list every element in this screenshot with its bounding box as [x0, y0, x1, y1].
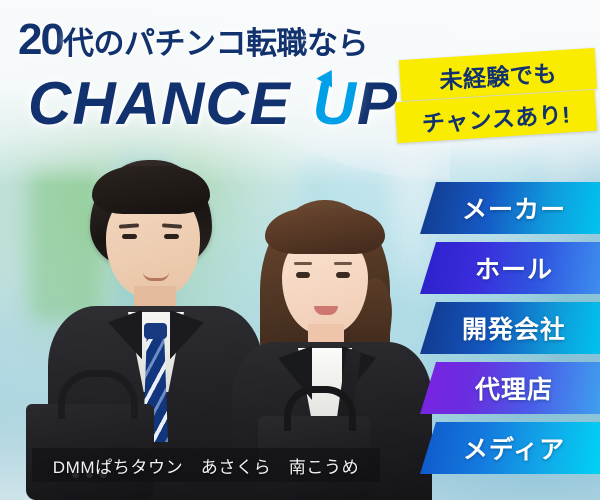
man-tie-knot: [144, 323, 167, 339]
menu-item-maker[interactable]: メーカー: [420, 182, 600, 234]
logo-letter-u: U: [313, 72, 357, 136]
menu-item-label: メディア: [455, 430, 565, 466]
menu-item-label: 開発会社: [454, 310, 566, 346]
menu-item-hall[interactable]: ホール: [420, 242, 600, 294]
man-fringe: [92, 166, 210, 214]
menu-item-media[interactable]: メディア: [420, 422, 600, 474]
highlight-badge: 未経験でも チャンスあり!: [396, 52, 596, 146]
man-eye-right: [164, 234, 179, 239]
logo-letter-p: P: [357, 70, 398, 137]
woman-eye-left: [296, 272, 310, 278]
man-eye-left: [122, 234, 137, 239]
headline-tail: なら: [307, 26, 368, 61]
badge-text-line2: チャンスあり!: [421, 95, 571, 138]
menu-item-development-company[interactable]: 開発会社: [420, 302, 600, 354]
chance-up-logo: CHANCEUP: [28, 72, 398, 136]
woman-eyebrow-right: [334, 262, 352, 265]
badge-text-line1: 未経験でも: [438, 54, 557, 95]
credit-text: DMMぱちタウン あさくら 南こうめ: [53, 453, 359, 478]
category-menu: メーカー ホール 開発会社 代理店 メディア: [420, 182, 600, 482]
menu-item-label: 代理店: [467, 370, 553, 406]
menu-item-label: ホール: [467, 250, 553, 286]
woman-eyebrow-left: [294, 262, 312, 265]
woman-eye-right: [336, 272, 350, 278]
credit-bar: DMMぱちタウン あさくら 南こうめ: [32, 448, 380, 482]
logo-word-chance: CHANCE: [28, 70, 291, 137]
page-title: 20代のパチンコ転職なら: [18, 19, 368, 65]
menu-item-label: メーカー: [454, 190, 566, 226]
promo-banner: 20代のパチンコ転職なら CHANCEUP 未経験でも チャンスあり! メーカー…: [0, 0, 600, 500]
menu-item-agency[interactable]: 代理店: [420, 362, 600, 414]
woman-fringe: [265, 208, 385, 254]
headline-main: 代のパチンコ転職: [63, 26, 307, 61]
headline-number: 20: [18, 15, 63, 64]
people-photo-group: [0, 140, 440, 500]
